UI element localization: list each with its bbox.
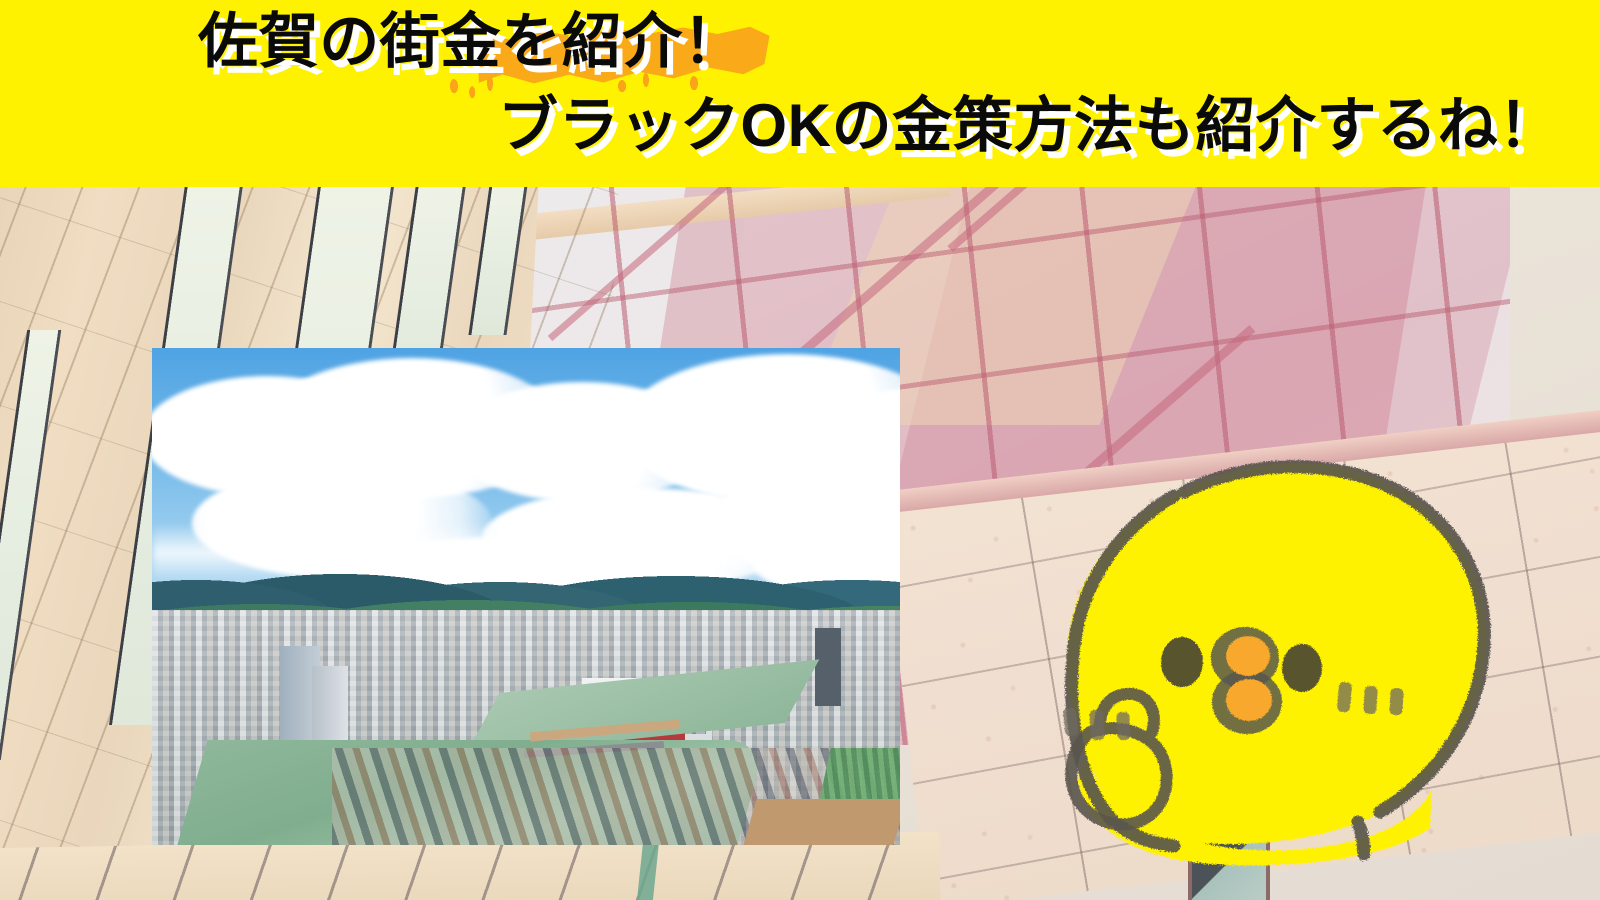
chick-mascot bbox=[960, 430, 1500, 870]
city-tower bbox=[815, 628, 841, 706]
dirt-lot bbox=[743, 799, 900, 845]
mascot-blush-left bbox=[1063, 707, 1131, 740]
banner-title-line-1: 佐賀の街金を紹介！ bbox=[198, 12, 743, 72]
mascot-right-eye bbox=[1282, 644, 1322, 692]
banner-title-line-2: ブラックOKの金策方法も紹介するね！ bbox=[498, 96, 1559, 156]
mascot-left-eye bbox=[1161, 637, 1203, 687]
title-banner: 佐賀の街金を紹介！ ブラックOKの金策方法も紹介するね！ bbox=[0, 0, 1600, 187]
inset-cityscape-photo bbox=[152, 348, 900, 845]
mascot-beak bbox=[1211, 627, 1282, 734]
promo-banner-image: 佐賀の街金を紹介！ ブラックOKの金策方法も紹介するね！ bbox=[0, 0, 1600, 900]
